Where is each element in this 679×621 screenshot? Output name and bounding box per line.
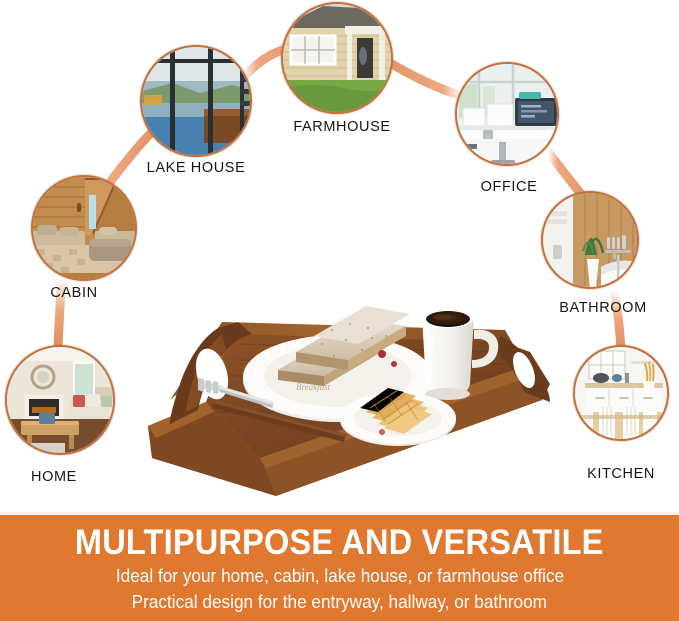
badge-ring [573, 345, 669, 441]
badge-lake-house[interactable] [140, 45, 252, 157]
badge-ring [455, 62, 559, 166]
badge-label-kitchen: KITCHEN [587, 466, 655, 482]
badge-label-office: OFFICE [481, 179, 538, 195]
photo-farmhouse [283, 4, 391, 112]
photo-lake-house [142, 47, 250, 155]
banner-headline: MULTIPURPOSE AND VERSATILE [75, 525, 604, 562]
badge-kitchen[interactable] [573, 345, 669, 441]
badge-label-farmhouse: FARMHOUSE [293, 119, 390, 135]
promo-banner: MULTIPURPOSE AND VERSATILE Ideal for you… [0, 512, 679, 621]
infographic-canvas: LAKE HOUSE [0, 0, 679, 621]
badge-home[interactable] [5, 345, 115, 455]
badge-label-cabin: CABIN [50, 285, 97, 301]
badge-ring [5, 345, 115, 455]
badge-label-home: HOME [31, 469, 77, 485]
photo-kitchen [575, 347, 667, 439]
badge-label-bathroom: BATHROOM [559, 300, 647, 316]
photo-office [457, 64, 557, 164]
badge-ring [281, 2, 393, 114]
badge-ring [140, 45, 252, 157]
badge-farmhouse[interactable] [281, 2, 393, 114]
banner-line-1: Ideal for your home, cabin, lake house, … [115, 564, 563, 588]
badge-office[interactable] [455, 62, 559, 166]
arc-farmhouse-office [385, 60, 462, 96]
product-photo-serving-tray: Breakfast [110, 252, 565, 512]
photo-home [7, 347, 113, 453]
arc-bathroom-kitchen [614, 290, 621, 350]
badge-label-lake-house: LAKE HOUSE [147, 160, 246, 176]
banner-line-2: Practical design for the entryway, hallw… [132, 590, 547, 614]
